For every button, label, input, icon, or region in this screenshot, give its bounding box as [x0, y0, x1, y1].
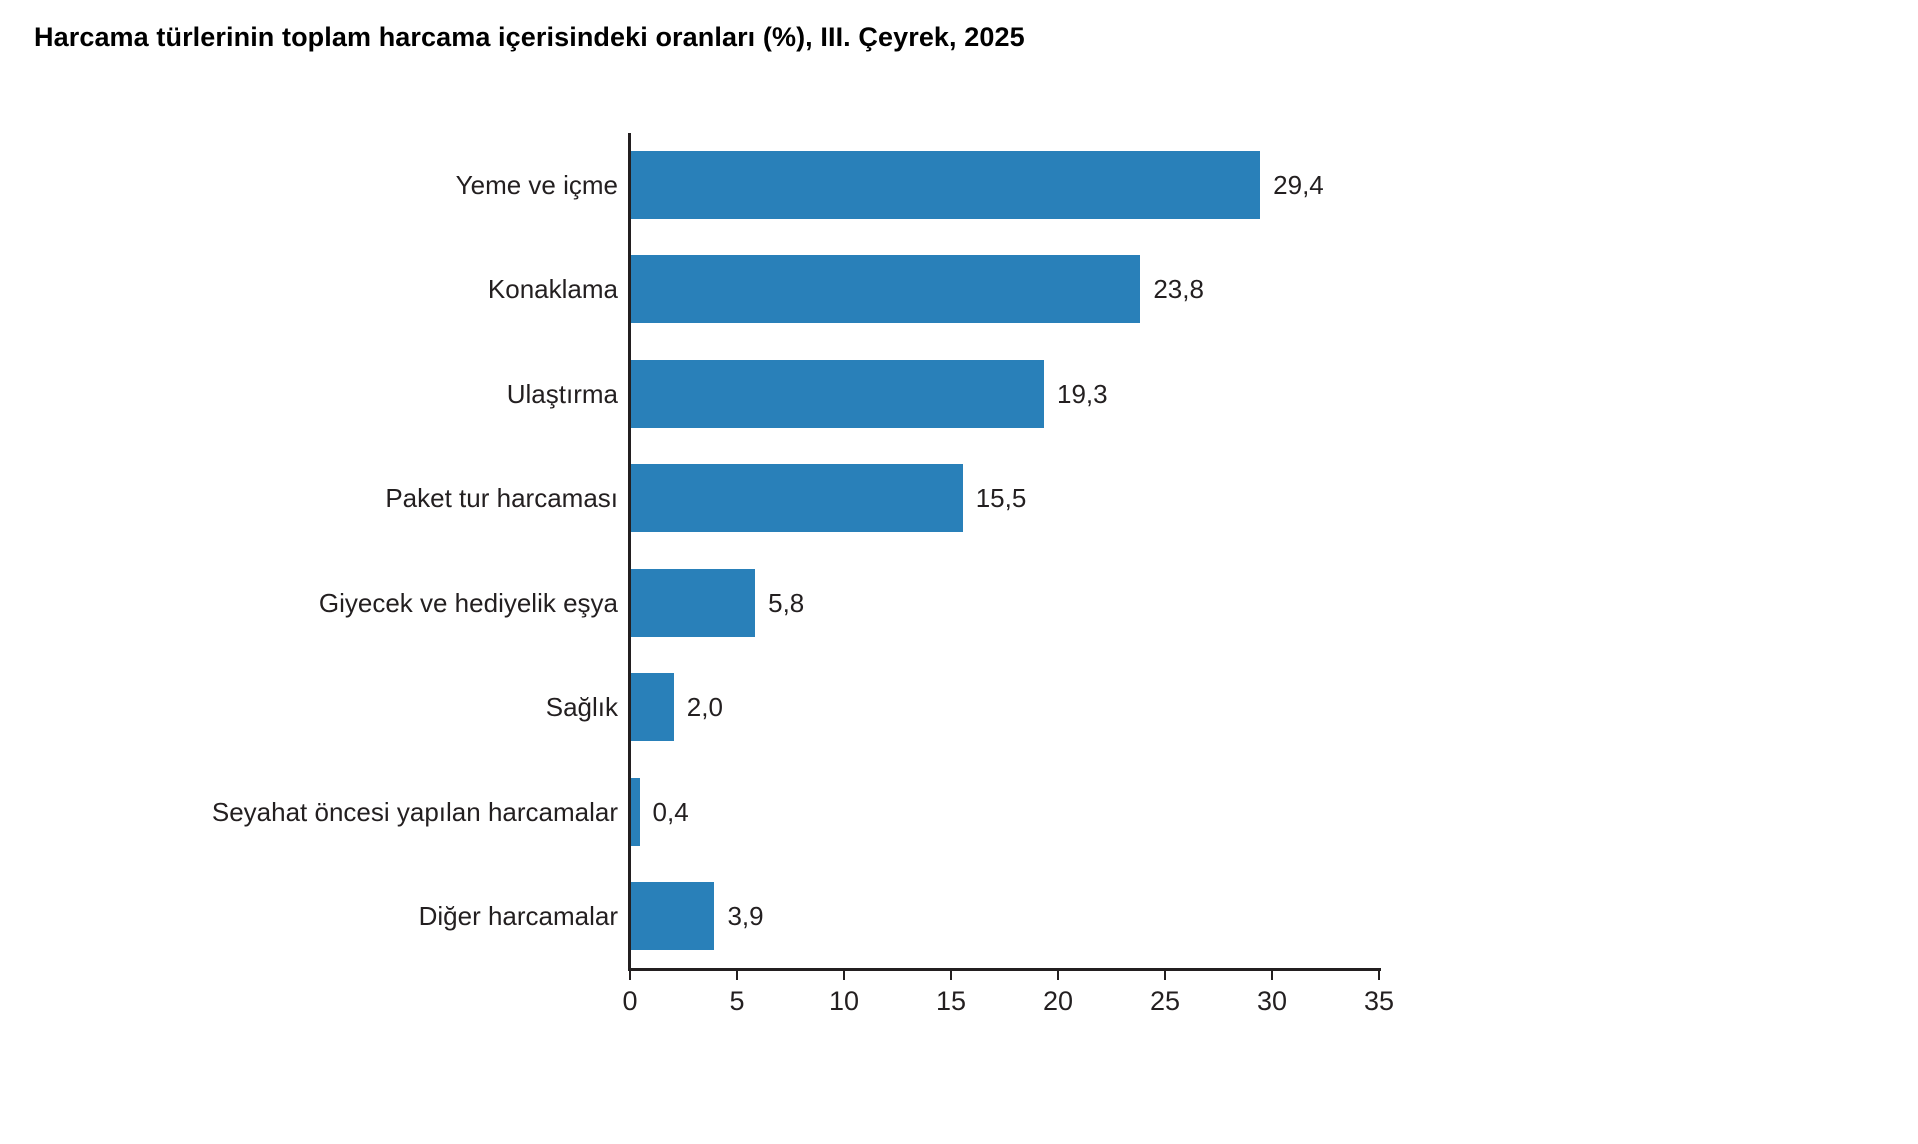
- category-label: Yeme ve içme: [456, 172, 618, 198]
- bar-row: Konaklama 23,8: [0, 237, 1918, 341]
- bar-track: 2,0: [631, 673, 723, 741]
- bar[interactable]: [631, 882, 714, 950]
- bar-chart-plot-area: Yeme ve içme 29,4 Konaklama 23,8 Ulaştır…: [0, 0, 1918, 1144]
- x-axis-tick: [1057, 968, 1059, 980]
- bar-track: 15,5: [631, 464, 1026, 532]
- bar[interactable]: [631, 464, 963, 532]
- bar[interactable]: [631, 151, 1260, 219]
- category-label: Paket tur harcaması: [385, 485, 618, 511]
- bar-track: 29,4: [631, 151, 1324, 219]
- x-axis-tick: [1271, 968, 1273, 980]
- bar-value-label: 3,9: [727, 903, 763, 929]
- category-label: Diğer harcamalar: [419, 903, 618, 929]
- x-axis-tick: [736, 968, 738, 980]
- bar-row: Paket tur harcaması 15,5: [0, 446, 1918, 550]
- bar[interactable]: [631, 255, 1140, 323]
- bar-row: Ulaştırma 19,3: [0, 342, 1918, 446]
- x-axis-tick: [843, 968, 845, 980]
- bar-value-label: 5,8: [768, 590, 804, 616]
- category-label: Giyecek ve hediyelik eşya: [319, 590, 618, 616]
- x-axis-tick: [629, 968, 631, 980]
- bar[interactable]: [631, 778, 640, 846]
- x-axis-tick: [950, 968, 952, 980]
- x-axis-tick-label: 5: [729, 988, 744, 1015]
- category-label: Sağlık: [546, 694, 618, 720]
- category-label: Seyahat öncesi yapılan harcamalar: [212, 799, 618, 825]
- bar-value-label: 29,4: [1273, 172, 1324, 198]
- bar-row: Sağlık 2,0: [0, 655, 1918, 759]
- x-axis-tick-label: 25: [1150, 988, 1180, 1015]
- x-axis-line: [628, 968, 1381, 971]
- bar-value-label: 23,8: [1153, 276, 1204, 302]
- bar-row: Yeme ve içme 29,4: [0, 133, 1918, 237]
- bar[interactable]: [631, 569, 755, 637]
- bar-track: 5,8: [631, 569, 804, 637]
- bar-track: 23,8: [631, 255, 1204, 323]
- x-axis-tick-label: 10: [829, 988, 859, 1015]
- x-axis-tick-label: 30: [1257, 988, 1287, 1015]
- bar[interactable]: [631, 360, 1044, 428]
- bar-value-label: 15,5: [976, 485, 1027, 511]
- bar-value-label: 19,3: [1057, 381, 1108, 407]
- bar-track: 19,3: [631, 360, 1108, 428]
- x-axis-tick-label: 15: [936, 988, 966, 1015]
- bar-value-label: 0,4: [653, 799, 689, 825]
- x-axis-tick: [1164, 968, 1166, 980]
- bar-row: Giyecek ve hediyelik eşya 5,8: [0, 551, 1918, 655]
- x-axis-tick-label: 20: [1043, 988, 1073, 1015]
- bar-row: Diğer harcamalar 3,9: [0, 864, 1918, 968]
- chart-page: Harcama türlerinin toplam harcama içeris…: [0, 0, 1918, 1144]
- x-axis-tick-label: 35: [1364, 988, 1394, 1015]
- category-label: Konaklama: [488, 276, 618, 302]
- x-axis-tick-label: 0: [622, 988, 637, 1015]
- bar[interactable]: [631, 673, 674, 741]
- bar-track: 0,4: [631, 778, 689, 846]
- category-label: Ulaştırma: [507, 381, 618, 407]
- bar-value-label: 2,0: [687, 694, 723, 720]
- bar-track: 3,9: [631, 882, 764, 950]
- bar-row: Seyahat öncesi yapılan harcamalar 0,4: [0, 760, 1918, 864]
- x-axis-tick: [1378, 968, 1380, 980]
